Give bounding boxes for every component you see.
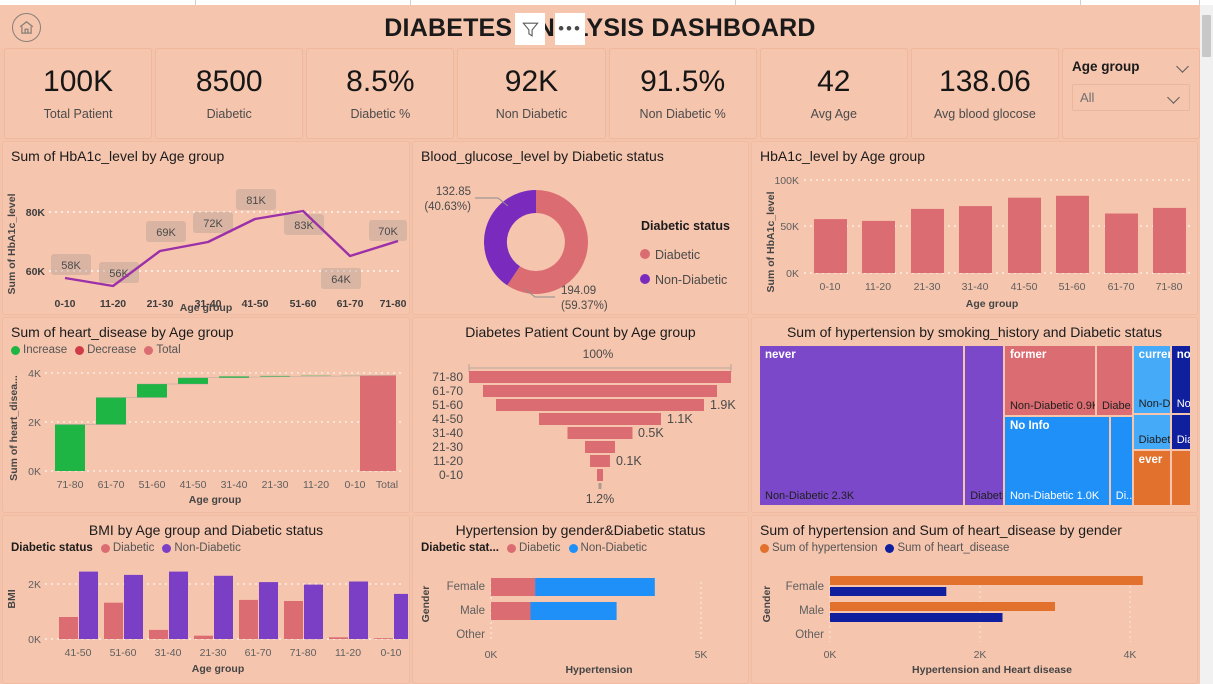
treemap-tile[interactable]: Di... bbox=[1110, 416, 1133, 506]
glucose-donut-plot: 132.85 (40.63%) 194.09 (59.37%) Diabetic… bbox=[413, 164, 748, 312]
svg-text:11-20: 11-20 bbox=[433, 454, 463, 468]
legend-item-sum-hypertension[interactable]: Sum of hypertension bbox=[760, 542, 877, 554]
treemap-tile-value: Diabe... bbox=[1102, 400, 1133, 412]
svg-text:Gender: Gender bbox=[761, 586, 773, 623]
svg-text:69K: 69K bbox=[156, 227, 176, 239]
treemap-tile-value: Di... bbox=[1116, 490, 1133, 502]
treemap-tile[interactable]: currentNon-Dia... bbox=[1133, 345, 1171, 414]
funnel-plot: 100% 71-80 61-70 51-60 41-50 31-40 21-30… bbox=[413, 340, 748, 510]
legend-item-sum-heart-disease[interactable]: Sum of heart_disease bbox=[885, 542, 1009, 554]
svg-text:41-50: 41-50 bbox=[180, 479, 207, 491]
svg-text:0-10: 0-10 bbox=[439, 468, 463, 482]
visual-glucose-donut[interactable]: Blood_glucose_level by Diabetic status 1… bbox=[412, 141, 749, 315]
treemap-tile[interactable]: Dia... bbox=[1171, 414, 1191, 449]
legend-label: Sum of hypertension bbox=[772, 542, 877, 554]
svg-text:58K: 58K bbox=[61, 260, 81, 272]
kpi-non-diabetic-percent[interactable]: 91.5% Non Diabetic % bbox=[609, 48, 757, 139]
kpi-value: 91.5% bbox=[640, 66, 725, 98]
treemap-tile-value: Diabeti... bbox=[970, 490, 1004, 502]
svg-text:Age group: Age group bbox=[192, 663, 245, 675]
chevron-down-icon[interactable] bbox=[1168, 91, 1181, 104]
svg-text:71-80: 71-80 bbox=[432, 370, 463, 384]
svg-text:Sum of HbA1c_level: Sum of HbA1c_level bbox=[6, 193, 18, 294]
visual-title: Sum of hypertension by smoking_history a… bbox=[752, 318, 1197, 340]
legend-item-non-diabetic[interactable]: Non-Diabetic bbox=[569, 542, 647, 554]
legend-label: Increase bbox=[23, 344, 67, 356]
visual-title: Sum of heart_disease by Age group bbox=[3, 318, 409, 340]
svg-text:11-20: 11-20 bbox=[335, 647, 361, 659]
svg-text:0-10: 0-10 bbox=[344, 479, 365, 491]
visual-title: Sum of HbA1c_level by Age group bbox=[3, 142, 409, 164]
svg-text:0K: 0K bbox=[786, 268, 799, 280]
legend-label: Non-Diabetic bbox=[581, 542, 647, 554]
treemap-tile-value: Non-Dia... bbox=[1139, 398, 1171, 410]
treemap-tile[interactable]: Diabeti... bbox=[964, 345, 1004, 506]
kpi-avg-age[interactable]: 42 Avg Age bbox=[760, 48, 908, 139]
svg-text:0.5K: 0.5K bbox=[638, 426, 664, 440]
svg-text:Hypertension and Heart disease: Hypertension and Heart disease bbox=[912, 664, 1072, 676]
kpi-label: Non Diabetic bbox=[496, 107, 568, 121]
treemap-tile-value: Diabetic ... bbox=[1139, 434, 1171, 446]
svg-text:81K: 81K bbox=[246, 195, 266, 207]
treemap-tile-value: Non-Diabetic 0.9K bbox=[1010, 400, 1096, 412]
svg-text:41-50: 41-50 bbox=[1011, 281, 1038, 293]
svg-text:41-50: 41-50 bbox=[432, 412, 463, 426]
svg-text:0K: 0K bbox=[28, 466, 41, 478]
svg-text:31-40: 31-40 bbox=[432, 426, 463, 440]
svg-text:132.85: 132.85 bbox=[436, 186, 471, 198]
kpi-label: Avg blood glocose bbox=[934, 107, 1036, 121]
filter-icon[interactable] bbox=[515, 13, 545, 45]
hba1c-line-plot: Sum of HbA1c_level 80K 60K bbox=[3, 164, 409, 312]
svg-text:Total: Total bbox=[376, 479, 398, 491]
svg-text:Other: Other bbox=[456, 629, 485, 641]
waterfall-plot: Sum of heart_disea... 4K 2K 0K bbox=[3, 356, 409, 506]
slicer-selected-value: All bbox=[1080, 90, 1094, 105]
legend-label: Non-Diabetic bbox=[174, 542, 240, 554]
kpi-avg-blood-glucose[interactable]: 138.06 Avg blood glocose bbox=[911, 48, 1059, 139]
legend-label: Decrease bbox=[87, 344, 136, 356]
kpi-diabetic-percent[interactable]: 8.5% Diabetic % bbox=[306, 48, 454, 139]
svg-text:31-40: 31-40 bbox=[221, 479, 248, 491]
svg-text:2K: 2K bbox=[28, 417, 41, 429]
svg-text:5K: 5K bbox=[695, 649, 708, 661]
svg-text:71-80: 71-80 bbox=[290, 647, 317, 659]
svg-text:21-30: 21-30 bbox=[262, 479, 289, 491]
svg-text:0-10: 0-10 bbox=[380, 647, 401, 659]
svg-text:71-80: 71-80 bbox=[57, 479, 84, 491]
svg-text:(40.63%): (40.63%) bbox=[424, 201, 471, 213]
svg-text:4K: 4K bbox=[28, 368, 41, 380]
bmi-plot: BMI 2K 0K 4 bbox=[3, 554, 409, 677]
svg-text:41-50: 41-50 bbox=[65, 647, 92, 659]
legend-title: Diabetic stat... bbox=[421, 542, 499, 554]
legend-item-increase[interactable]: Increase bbox=[11, 344, 67, 356]
svg-text:BMI: BMI bbox=[6, 589, 18, 608]
hyp-hd-plot: Gender Female Male Other 0K 2K bbox=[752, 554, 1197, 677]
svg-text:0K: 0K bbox=[28, 634, 41, 646]
legend-item-diabetic[interactable]: Diabetic bbox=[507, 542, 561, 554]
svg-text:Female: Female bbox=[447, 581, 485, 593]
svg-text:56K: 56K bbox=[109, 268, 129, 280]
hypertension-legend: Diabetic stat... Diabetic Non-Diabetic bbox=[413, 538, 748, 554]
visual-grid: Sum of HbA1c_level by Age group Sum of H… bbox=[2, 141, 1200, 684]
treemap-tile[interactable]: ever bbox=[1133, 450, 1171, 506]
svg-text:Sum of HbA1c_level: Sum of HbA1c_level bbox=[765, 191, 777, 292]
svg-text:0-10: 0-10 bbox=[819, 281, 840, 293]
svg-text:31-40: 31-40 bbox=[962, 281, 989, 293]
svg-text:4K: 4K bbox=[1124, 649, 1137, 661]
svg-text:61-70: 61-70 bbox=[1108, 281, 1135, 293]
visual-patientcount-funnel[interactable]: Diabetes Patient Count by Age group 100%… bbox=[412, 317, 749, 513]
svg-text:Other: Other bbox=[795, 629, 824, 641]
legend-swatch bbox=[162, 544, 171, 553]
page-scrollbar[interactable] bbox=[1200, 5, 1213, 684]
svg-text:60K: 60K bbox=[26, 266, 46, 278]
svg-text:1.2%: 1.2% bbox=[586, 492, 615, 506]
treemap-tile-category: current bbox=[1139, 349, 1171, 361]
treemap-tile[interactable]: Diabetic ... bbox=[1133, 414, 1171, 449]
treemap-tile-value: Non-Diabetic 1.0K bbox=[1010, 490, 1099, 502]
svg-text:0K: 0K bbox=[824, 649, 837, 661]
svg-text:1.1K: 1.1K bbox=[667, 412, 693, 426]
visual-heartdisease-waterfall[interactable]: Sum of heart_disease by Age group Increa… bbox=[2, 317, 410, 513]
treemap-tile-category: former bbox=[1010, 349, 1046, 361]
kpi-label: Non Diabetic % bbox=[640, 107, 726, 121]
svg-text:Age group: Age group bbox=[189, 494, 242, 506]
svg-text:21-30: 21-30 bbox=[914, 281, 941, 293]
legend-label: Diabetic bbox=[113, 542, 155, 554]
svg-text:51-60: 51-60 bbox=[110, 647, 137, 659]
treemap-tile-value: No... bbox=[1177, 398, 1191, 410]
legend-swatch bbox=[144, 346, 153, 355]
visual-hypertension-heartdisease-gender[interactable]: Sum of hypertension and Sum of heart_dis… bbox=[751, 515, 1198, 684]
visual-title: Blood_glucose_level by Diabetic status bbox=[413, 142, 748, 164]
svg-text:61-70: 61-70 bbox=[98, 479, 125, 491]
treemap-tile[interactable]: Diabe... bbox=[1096, 345, 1133, 416]
visual-title: Sum of hypertension and Sum of heart_dis… bbox=[752, 516, 1197, 538]
legend-swatch bbox=[760, 544, 769, 553]
treemap-tile[interactable]: No InfoNon-Diabetic 1.0K bbox=[1004, 416, 1110, 506]
svg-text:Diabetic status: Diabetic status bbox=[641, 219, 730, 233]
legend-item-total[interactable]: Total bbox=[144, 344, 180, 356]
bmi-legend: Diabetic status Diabetic Non-Diabetic bbox=[3, 538, 409, 554]
svg-text:51-60: 51-60 bbox=[139, 479, 166, 491]
hypertension-stacked-plot: Gender Female Male Other 0K 5K Hypertens… bbox=[413, 554, 748, 677]
svg-text:Age group: Age group bbox=[966, 298, 1019, 310]
treemap-tile-category: No Info bbox=[1010, 420, 1050, 432]
kpi-label: Total Patient bbox=[44, 107, 113, 121]
svg-text:21-30: 21-30 bbox=[432, 440, 463, 454]
legend-title: Diabetic status bbox=[11, 542, 93, 554]
svg-text:2K: 2K bbox=[28, 579, 41, 591]
chevron-down-icon[interactable] bbox=[1177, 60, 1190, 73]
kpi-row: 100K Total Patient 8500 Diabetic 8.5% Di… bbox=[4, 48, 1200, 139]
svg-text:0K: 0K bbox=[485, 649, 498, 661]
svg-text:1.9K: 1.9K bbox=[710, 398, 736, 412]
kpi-value: 42 bbox=[817, 66, 850, 98]
treemap-tile[interactable]: no...No... bbox=[1171, 345, 1191, 414]
visual-hba1c-bar[interactable]: HbA1c_level by Age group Sum of HbA1c_le… bbox=[751, 141, 1198, 315]
kpi-label: Avg Age bbox=[811, 107, 857, 121]
svg-text:64K: 64K bbox=[331, 274, 351, 286]
svg-text:11-20: 11-20 bbox=[865, 281, 891, 293]
svg-text:Male: Male bbox=[799, 605, 824, 617]
visual-title: HbA1c_level by Age group bbox=[752, 142, 1197, 164]
legend-swatch bbox=[75, 346, 84, 355]
svg-text:11-20: 11-20 bbox=[303, 479, 329, 491]
treemap-tile-category: ever bbox=[1139, 454, 1163, 466]
dashboard-header: DIABETES ANALYSIS DASHBOARD ••• bbox=[0, 5, 1200, 48]
legend-item-non-diabetic[interactable]: Non-Diabetic bbox=[162, 542, 240, 554]
svg-text:61-70: 61-70 bbox=[245, 647, 272, 659]
svg-text:50K: 50K bbox=[780, 221, 799, 233]
kpi-value: 100K bbox=[43, 66, 113, 98]
treemap-tile-category: never bbox=[765, 349, 796, 361]
svg-text:Sum of heart_disea...: Sum of heart_disea... bbox=[8, 375, 20, 481]
kpi-label: Diabetic % bbox=[350, 107, 410, 121]
dashboard-page: DIABETES ANALYSIS DASHBOARD ••• 100K Tot… bbox=[0, 0, 1213, 684]
legend-swatch bbox=[101, 544, 110, 553]
svg-text:Female: Female bbox=[786, 581, 824, 593]
visual-hypertension-gender-stacked[interactable]: Hypertension by gender&Diabetic status D… bbox=[412, 515, 749, 684]
treemap-tile[interactable]: formerNon-Diabetic 0.9K bbox=[1004, 345, 1096, 416]
waterfall-legend: Increase Decrease Total bbox=[3, 340, 409, 356]
svg-text:100K: 100K bbox=[774, 175, 799, 187]
svg-text:Hypertension: Hypertension bbox=[565, 664, 632, 676]
legend-label: Sum of heart_disease bbox=[897, 542, 1009, 554]
bmi-bars bbox=[59, 572, 408, 640]
legend-swatch bbox=[507, 544, 516, 553]
svg-text:Non-Diabetic: Non-Diabetic bbox=[655, 273, 727, 287]
legend-swatch bbox=[11, 346, 20, 355]
legend-item-diabetic[interactable]: Diabetic bbox=[101, 542, 155, 554]
treemap-tile-value: Dia... bbox=[1177, 434, 1191, 446]
svg-text:70K: 70K bbox=[378, 226, 398, 238]
svg-text:(59.37%): (59.37%) bbox=[561, 300, 608, 312]
svg-text:194.09: 194.09 bbox=[561, 285, 596, 297]
slicer-dropdown[interactable]: All bbox=[1072, 84, 1190, 111]
visual-title: Hypertension by gender&Diabetic status bbox=[413, 516, 748, 538]
kpi-value: 8.5% bbox=[346, 66, 414, 98]
svg-text:61-70: 61-70 bbox=[432, 384, 463, 398]
page-scrollbar-thumb[interactable] bbox=[1202, 15, 1211, 57]
treemap-tile-value: Non-Diabetic 2.3K bbox=[765, 490, 854, 502]
treemap-tile[interactable] bbox=[1171, 450, 1191, 506]
legend-label: Total bbox=[156, 344, 180, 356]
svg-text:Male: Male bbox=[460, 605, 485, 617]
kpi-non-diabetic[interactable]: 92K Non Diabetic bbox=[457, 48, 605, 139]
x-axis-title: Age group bbox=[3, 302, 409, 314]
svg-text:71-80: 71-80 bbox=[1156, 281, 1183, 293]
age-group-slicer[interactable]: Age group All bbox=[1062, 48, 1200, 139]
more-options-icon[interactable]: ••• bbox=[555, 13, 585, 45]
svg-text:80K: 80K bbox=[26, 207, 46, 219]
kpi-value: 8500 bbox=[196, 66, 263, 98]
legend-label: Diabetic bbox=[519, 542, 561, 554]
legend-swatch bbox=[569, 544, 578, 553]
svg-text:Gender: Gender bbox=[420, 586, 432, 623]
svg-text:2K: 2K bbox=[974, 649, 987, 661]
hba1c-bar-plot: Sum of HbA1c_level 100K 50K 0K bbox=[752, 164, 1197, 312]
visual-title: Diabetes Patient Count by Age group bbox=[413, 318, 748, 340]
hyp-hd-legend: Sum of hypertension Sum of heart_disease bbox=[752, 538, 1197, 554]
svg-text:21-30: 21-30 bbox=[200, 647, 227, 659]
svg-text:0.1K: 0.1K bbox=[616, 454, 642, 468]
visual-bmi-grouped-bar[interactable]: BMI by Age group and Diabetic status Dia… bbox=[2, 515, 410, 684]
svg-text:Diabetic: Diabetic bbox=[655, 248, 700, 262]
legend-item-decrease[interactable]: Decrease bbox=[75, 344, 136, 356]
kpi-value: 92K bbox=[505, 66, 558, 98]
page-title: DIABETES ANALYSIS DASHBOARD bbox=[0, 14, 1200, 43]
svg-text:72K: 72K bbox=[203, 218, 223, 230]
svg-text:100%: 100% bbox=[583, 347, 614, 361]
legend-swatch bbox=[885, 544, 894, 553]
visual-hba1c-line[interactable]: Sum of HbA1c_level by Age group Sum of H… bbox=[2, 141, 410, 315]
visual-hypertension-treemap[interactable]: Sum of hypertension by smoking_history a… bbox=[751, 317, 1198, 513]
treemap-tile-category: no... bbox=[1177, 349, 1191, 361]
kpi-value: 138.06 bbox=[939, 66, 1031, 98]
treemap-tiles: neverNon-Diabetic 2.3KDiabeti...formerNo… bbox=[759, 345, 1191, 506]
svg-text:51-60: 51-60 bbox=[1059, 281, 1086, 293]
kpi-diabetic[interactable]: 8500 Diabetic bbox=[155, 48, 303, 139]
svg-text:51-60: 51-60 bbox=[432, 398, 463, 412]
slicer-title: Age group bbox=[1072, 59, 1140, 74]
kpi-label: Diabetic bbox=[207, 107, 252, 121]
kpi-total-patient[interactable]: 100K Total Patient bbox=[4, 48, 152, 139]
svg-text:31-40: 31-40 bbox=[155, 647, 182, 659]
treemap-tile[interactable]: neverNon-Diabetic 2.3K bbox=[759, 345, 964, 506]
svg-text:83K: 83K bbox=[294, 220, 314, 232]
visual-title: BMI by Age group and Diabetic status bbox=[3, 516, 409, 538]
